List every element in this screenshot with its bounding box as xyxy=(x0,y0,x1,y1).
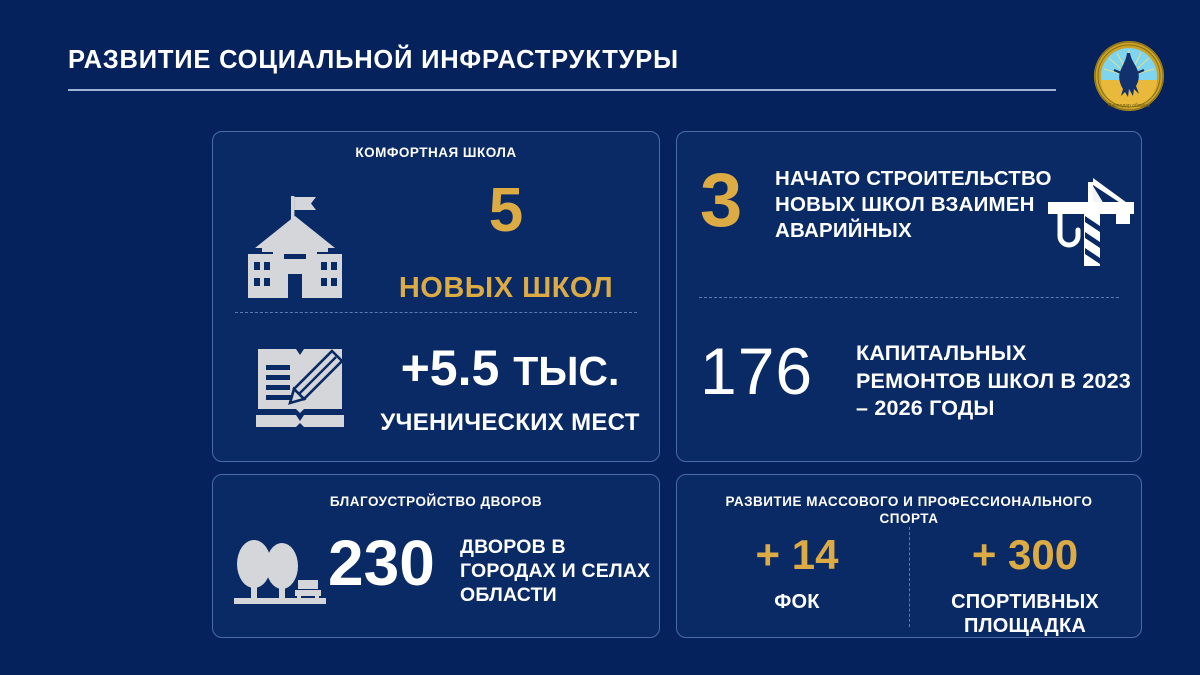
sport-grounds-label: СПОРТИВНЫХ ПЛОЩАДКА xyxy=(915,590,1135,639)
capital-repairs-value: 176 xyxy=(700,338,813,404)
stat-student-seats: +5.5 ТЫС. УЧЕНИЧЕСКИХ МЕСТ xyxy=(364,343,656,437)
stat-fok: + 14 ФОК xyxy=(690,534,904,614)
card-section-divider xyxy=(699,297,1119,298)
yards-label: ДВОРОВ В ГОРОДАХ И СЕЛАХ ОБЛАСТИ xyxy=(460,536,660,607)
card-title-yards: БЛАГОУСТРОЙСТВО ДВОРОВ xyxy=(212,481,660,511)
new-schools-value: 5 xyxy=(489,180,523,242)
started-construction-value: 3 xyxy=(700,163,742,239)
stat-new-schools: 5 НОВЫХ ШКОЛ xyxy=(360,180,652,305)
slide-header: РАЗВИТИЕ СОЦИАЛЬНОЙ ИНФРАСТРУКТУРЫ xyxy=(68,46,1058,91)
slide-canvas: РАЗВИТИЕ СОЦИАЛЬНОЙ ИНФРАСТРУКТУРЫ Павло… xyxy=(0,0,1200,675)
book-pencil-icon xyxy=(252,337,348,433)
title-underline xyxy=(68,89,1056,91)
capital-repairs-label: КАПИТАЛЬНЫХ РЕМОНТОВ ШКОЛ В 2023 – 2026 … xyxy=(856,340,1136,423)
school-building-icon xyxy=(240,192,350,300)
construction-crane-icon xyxy=(1044,174,1140,270)
card-section-divider xyxy=(235,312,637,313)
fok-value: + 14 xyxy=(690,534,904,576)
card-title-comfortable-school: КОМФОРТНАЯ ШКОЛА xyxy=(213,132,659,162)
trees-bench-icon xyxy=(232,534,328,614)
card-title-sport: РАЗВИТИЕ МАССОВОГО И ПРОФЕССИОНАЛЬНОГО С… xyxy=(676,481,1142,528)
student-seats-label: УЧЕНИЧЕСКИХ МЕСТ xyxy=(364,409,656,437)
regional-emblem-icon: Павлодар облысы xyxy=(1092,39,1166,113)
sport-column-divider xyxy=(909,527,910,627)
yards-value: 230 xyxy=(328,531,435,595)
emblem-caption: Павлодар облысы xyxy=(1108,103,1151,109)
stat-sport-grounds: + 300 СПОРТИВНЫХ ПЛОЩАДКА xyxy=(915,534,1135,639)
student-seats-value-row: +5.5 ТЫС. xyxy=(364,343,656,393)
fok-label: ФОК xyxy=(690,590,904,614)
sport-grounds-value: + 300 xyxy=(915,534,1135,576)
student-seats-value: +5.5 xyxy=(401,340,500,396)
started-construction-label: НАЧАТО СТРОИТЕЛЬСТВО НОВЫХ ШКОЛ ВЗАИМЕН … xyxy=(775,166,1065,244)
page-title: РАЗВИТИЕ СОЦИАЛЬНОЙ ИНФРАСТРУКТУРЫ xyxy=(68,46,1058,75)
new-schools-label: НОВЫХ ШКОЛ xyxy=(399,272,613,305)
student-seats-unit: ТЫС. xyxy=(513,348,619,394)
